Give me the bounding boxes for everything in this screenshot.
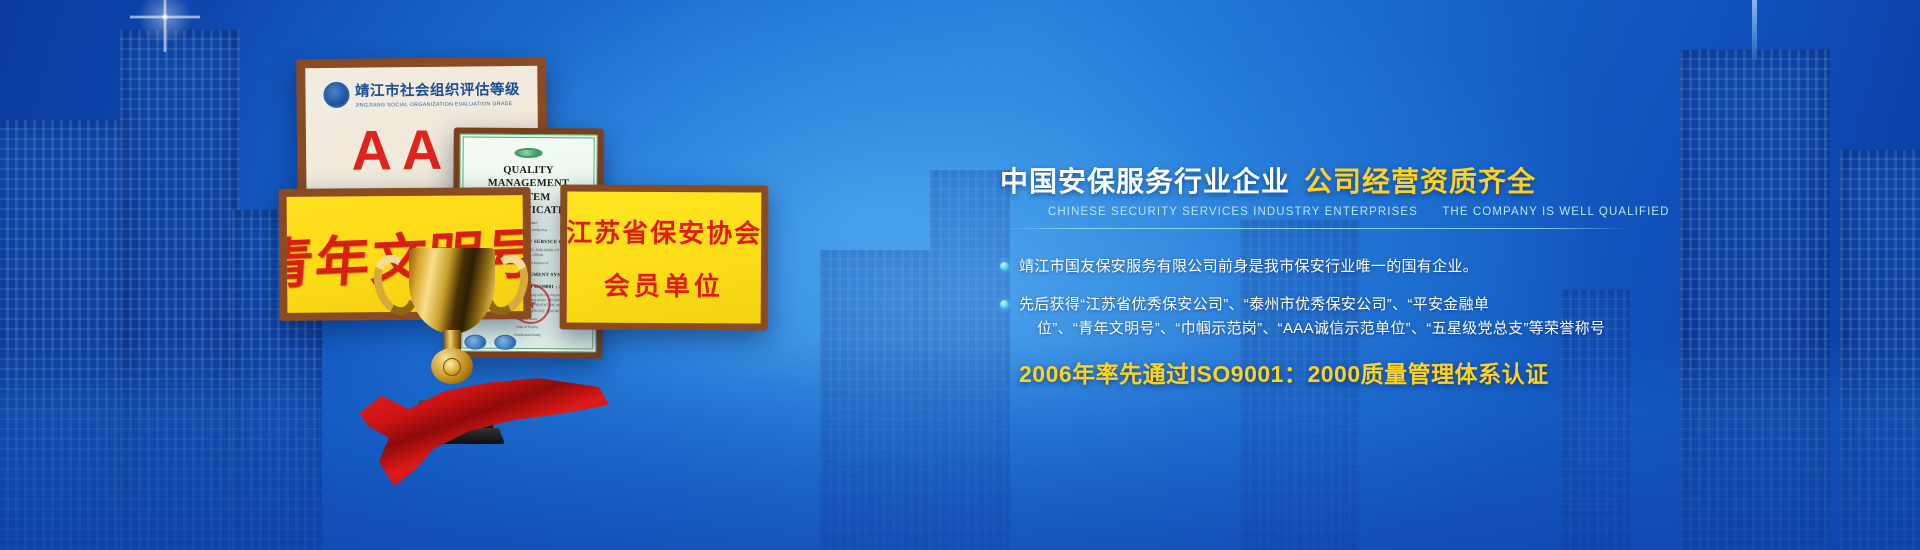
awards-cluster: 靖江市社会组织评估等级 JINGJIANG SOCIAL ORGANIZATIO… [255,40,955,510]
bullet-2-text: 先后获得“江苏省优秀保安公司”、“泰州市优秀保安公司”、“平安金融单 位”、“青… [1019,293,1605,341]
iso-highlight-text: 2006年率先通过ISO9001：2000质量管理体系认证 [1019,355,1700,389]
bullet-2-line2: 位”、“青年文明号”、“巾帼示范岗”、“AAA诚信示范单位”、“五星级党总支”等… [1019,317,1605,341]
building-left-1 [0,120,140,550]
headline-divider [1000,228,1630,229]
civil-affairs-seal-icon [323,81,349,107]
headline-subtitle: CHINESE SECURITY SERVICES INDUSTRY ENTER… [1048,206,1700,218]
building-right-1 [1680,50,1830,550]
trophy-bowl [409,248,495,334]
aaa-plaque-title-cn: 靖江市社会组织评估等级 [355,78,520,101]
cqc-seal-icon [515,148,543,158]
gold-trophy [367,248,537,463]
association-plaque-line2: 会员单位 [604,265,724,303]
headline: 中国安保服务行业企业 公司经营资质齐全 [1000,160,1700,200]
list-item: 靖江市国友保安服务有限公司前身是我市保安行业唯一的国有企业。 [1000,255,1700,279]
list-item: 先后获得“江苏省优秀保安公司”、“泰州市优秀保安公司”、“平安金融单 位”、“青… [1000,293,1700,341]
building-right-3 [1840,150,1920,550]
tower-spire-right [1752,0,1757,60]
bullet-dot-icon [1000,262,1009,271]
bullet-list: 靖江市国友保安服务有限公司前身是我市保安行业唯一的国有企业。 先后获得“江苏省优… [1000,255,1700,341]
bullet-2-line1: 先后获得“江苏省优秀保安公司”、“泰州市优秀保安公司”、“平安金融单 [1019,296,1489,313]
association-plaque-line1: 江苏省保安协会 [566,212,762,250]
bullet-1-text: 靖江市国友保安服务有限公司前身是我市保安行业唯一的国有企业。 [1019,255,1478,279]
bullet-dot-icon [1000,300,1009,309]
trophy-medal-icon [443,358,461,376]
building-left-2 [120,30,240,550]
headline-cn-white: 中国安保服务行业企业 [1000,160,1290,200]
aaa-plaque-title-en: JINGJIANG SOCIAL ORGANIZATION EVALUATION… [355,101,520,109]
subtitle-en-right: THE COMPANY IS WELL QUALIFIED [1442,206,1669,218]
promo-banner: 靖江市社会组织评估等级 JINGJIANG SOCIAL ORGANIZATIO… [0,0,1920,550]
banner-copy: 中国安保服务行业企业 公司经营资质齐全 CHINESE SECURITY SER… [1000,160,1700,389]
star-glint-left [130,0,200,52]
association-member-plaque: 江苏省保安协会 会员单位 [560,184,769,330]
headline-cn-yellow: 公司经营资质齐全 [1304,160,1536,200]
subtitle-en-left: CHINESE SECURITY SERVICES INDUSTRY ENTER… [1048,206,1418,218]
